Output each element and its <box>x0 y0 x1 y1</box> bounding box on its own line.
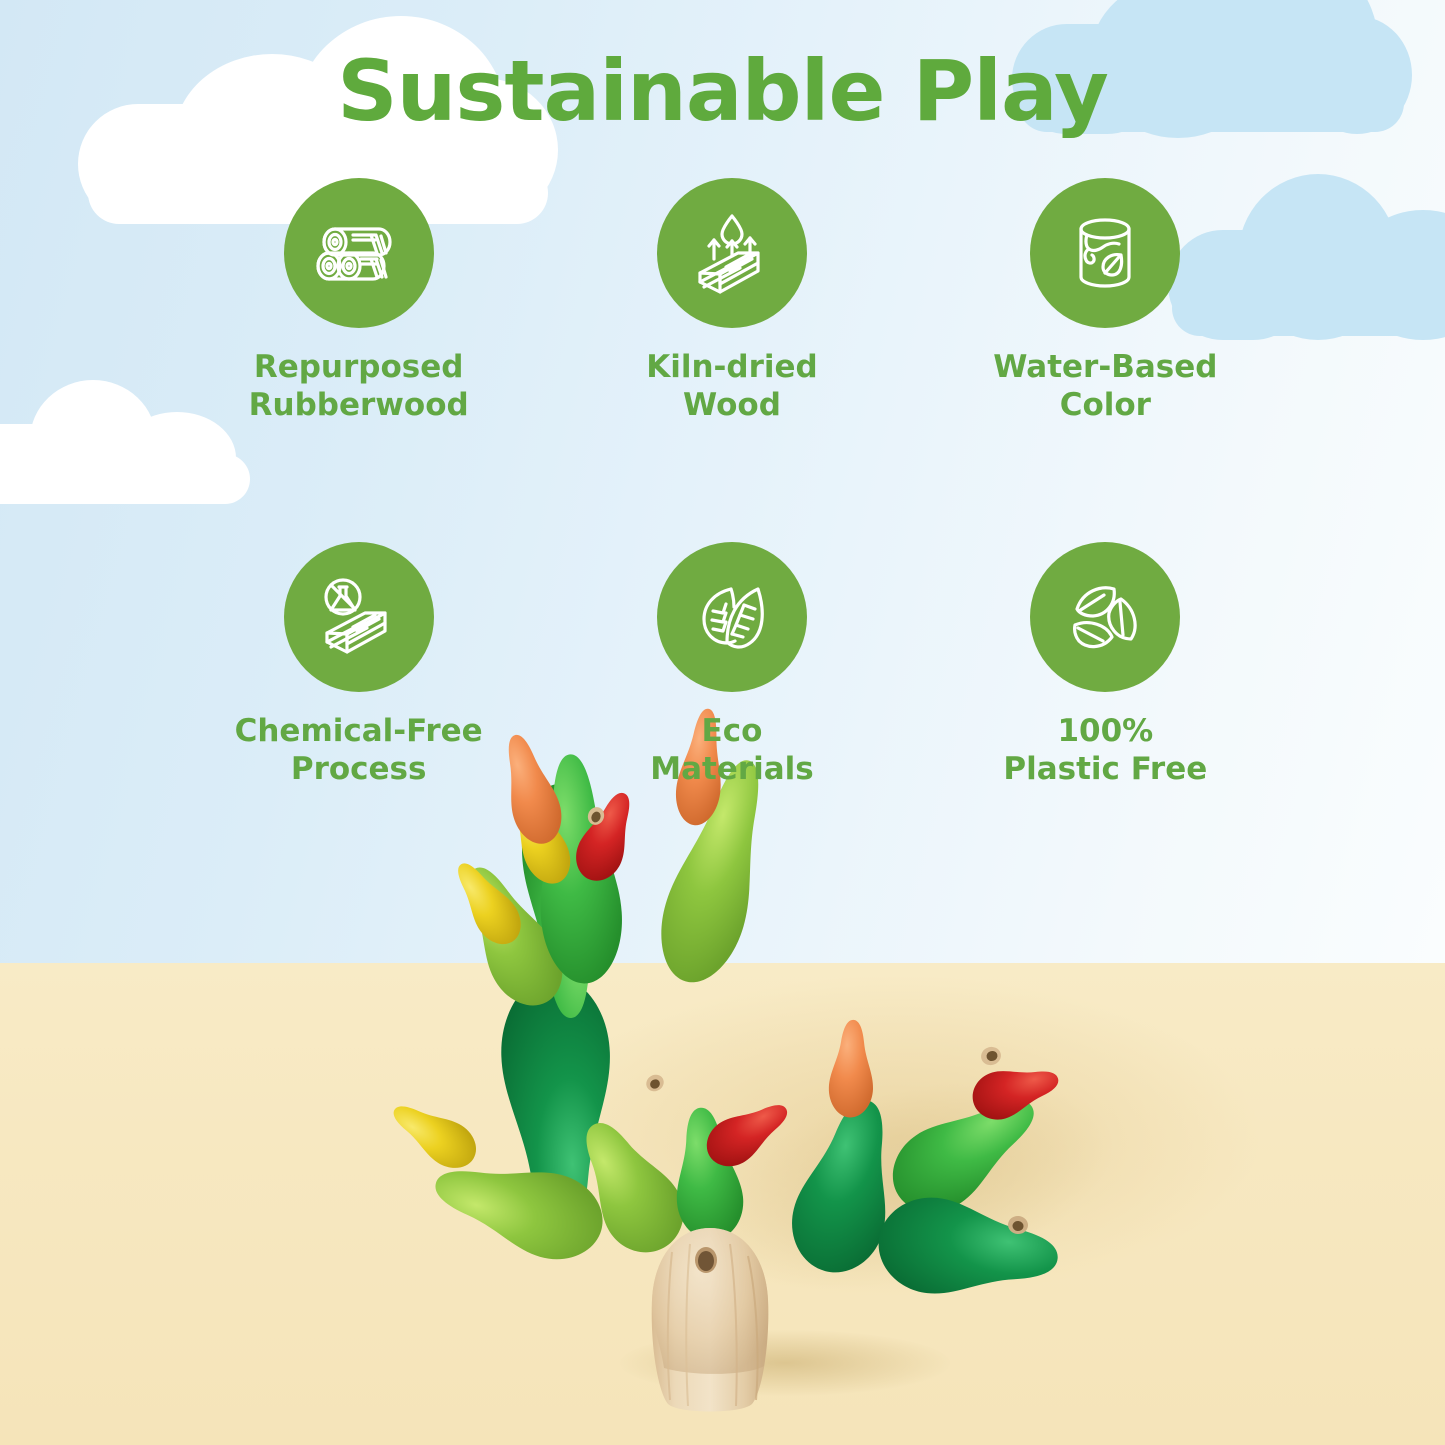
badge-label: Repurposed Rubberwood <box>249 348 469 424</box>
badge-label: Chemical-Free Process <box>235 712 483 788</box>
badge-label: 100% Plastic Free <box>1003 712 1207 788</box>
stacked-logs-icon <box>284 178 434 328</box>
three-leaves-recycle-icon <box>1030 542 1180 692</box>
badge-plastic-free[interactable]: 100% Plastic Free <box>919 542 1292 788</box>
paint-can-leaf-icon <box>1030 178 1180 328</box>
badge-water-based-color[interactable]: Water-Based Color <box>919 178 1292 424</box>
two-leaves-icon <box>657 542 807 692</box>
badge-kiln-dried-wood[interactable]: Kiln-dried Wood <box>545 178 918 424</box>
sustainable-play-poster: Sustainable Play <box>0 0 1445 1445</box>
cactus-wood-base <box>652 1228 769 1412</box>
no-chemical-flask-wood-icon <box>284 542 434 692</box>
badge-chemical-free-process[interactable]: Chemical-Free Process <box>172 542 545 788</box>
badge-label: Water-Based Color <box>993 348 1217 424</box>
page-title: Sustainable Play <box>0 42 1445 140</box>
badge-label: Eco Materials <box>650 712 814 788</box>
badge-repurposed-rubberwood[interactable]: Repurposed Rubberwood <box>172 178 545 424</box>
badge-eco-materials[interactable]: Eco Materials <box>545 542 918 788</box>
feature-badge-grid: Repurposed Rubberwood Kiln-dried Wood <box>172 178 1292 789</box>
badge-label: Kiln-dried Wood <box>646 348 818 424</box>
water-droplet-wood-planks-icon <box>657 178 807 328</box>
